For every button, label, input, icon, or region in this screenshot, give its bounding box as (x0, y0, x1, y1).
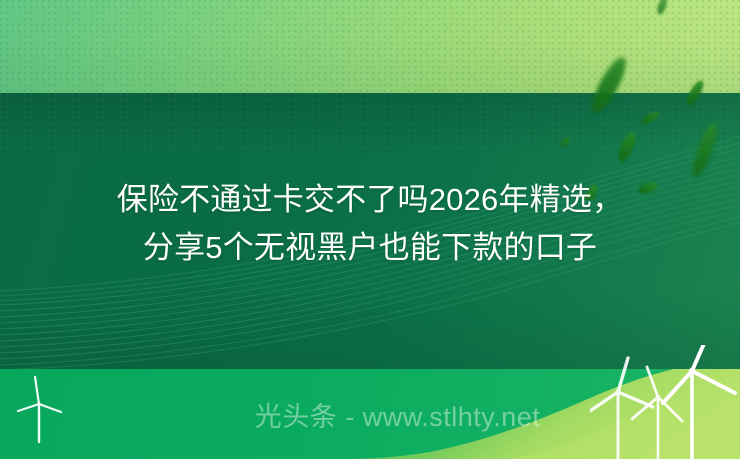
leaf-icon (689, 120, 722, 179)
leaf-icon (655, 0, 668, 16)
cover-title-line-1: 保险不通过卡交不了吗2026年精选， (0, 176, 740, 224)
leaf-icon (639, 110, 660, 126)
cover-title: 保险不通过卡交不了吗2026年精选， 分享5个无视黑户也能下款的口子 (0, 176, 740, 272)
site-watermark: 光头条 - www.stlhty.net (0, 400, 740, 434)
cover-title-line-2: 分享5个无视黑户也能下款的口子 (0, 224, 740, 272)
leaf-icon (684, 78, 707, 107)
leaf-icon-group (480, 0, 740, 200)
leaf-icon (615, 130, 639, 164)
leaf-icon (586, 53, 631, 116)
leaf-icon (559, 135, 571, 148)
cover-image-canvas: 保险不通过卡交不了吗2026年精选， 分享5个无视黑户也能下款的口子 光头条 -… (0, 0, 740, 459)
